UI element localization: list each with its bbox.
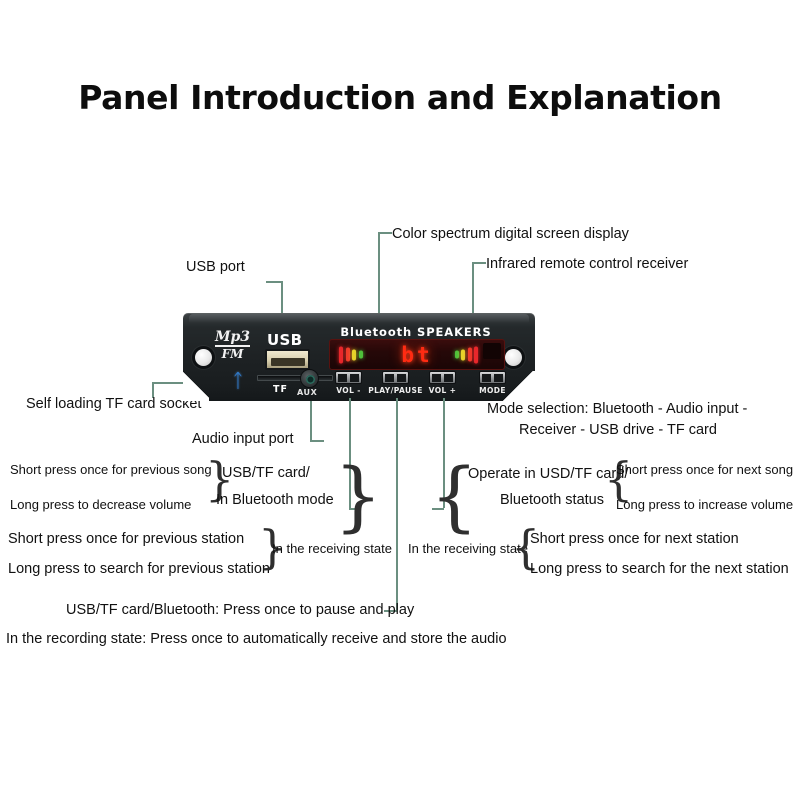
left-decrease-volume-text: Long press to decrease volume	[10, 497, 191, 513]
mode-button[interactable]	[479, 371, 506, 384]
play-pause-button[interactable]	[382, 371, 409, 384]
board-chamfer-left	[183, 371, 209, 401]
spectrum-bar	[474, 346, 478, 363]
diagram-canvas: Panel Introduction and Explanation USB p…	[0, 0, 800, 800]
spectrum-bar	[339, 346, 343, 363]
screen-title-text: Bluetooth SPEAKERS	[329, 325, 503, 339]
left-receiving-state-text: In the receiving state	[272, 541, 392, 557]
callout-tf-card-socket: Self loading TF card socket	[26, 395, 201, 413]
usb-port-connector[interactable]	[265, 349, 310, 370]
bluetooth-icon: ᛏ	[229, 370, 247, 392]
callout-usb-port: USB port	[186, 258, 245, 276]
aux-audio-input-jack[interactable]	[300, 369, 319, 388]
spectrum-bar	[352, 349, 356, 360]
volume-down-button-label: VOL -	[324, 386, 373, 395]
led-display-screen: bt	[329, 339, 505, 370]
leader-play-pause-vertical	[396, 398, 398, 610]
bottom-play-pause-text: USB/TF card/Bluetooth: Press once to pau…	[66, 601, 414, 619]
left-search-prev-station-text: Long press to search for previous statio…	[8, 560, 270, 578]
right-receiving-state-text: In the receiving state	[408, 541, 528, 557]
brand-mp3-text: Mp3	[215, 330, 250, 344]
spectrum-bar	[461, 349, 465, 360]
led-display-value: bt	[401, 343, 432, 367]
mp3-decoder-board: Mp3 FM USB ᛏ TF AUX Bluetooth SPEAKERS b…	[183, 313, 535, 401]
tf-slot-label: TF	[273, 384, 288, 395]
callout-audio-input-port: Audio input port	[192, 430, 294, 448]
mounting-hole-right	[505, 349, 522, 366]
spectrum-bar	[359, 351, 363, 359]
leader-usb-vertical	[281, 281, 283, 313]
left-group-line1: USB/TF card/	[222, 464, 310, 482]
board-chamfer-right	[503, 371, 535, 401]
spectrum-bars-right	[455, 346, 479, 363]
volume-down-button[interactable]	[335, 371, 362, 384]
leader-aux-elbow	[310, 440, 324, 442]
callout-infrared-receiver: Infrared remote control receiver	[486, 255, 688, 273]
brace-left-outer: }	[334, 458, 382, 534]
callout-mode-selection-line2: Receiver - USB drive - TF card	[519, 421, 717, 439]
right-group-line2: Bluetooth status	[500, 491, 604, 509]
right-next-station-text: Short press once for next station	[530, 530, 739, 548]
left-group-line2: In Bluetooth mode	[216, 491, 334, 509]
aux-jack-label: AUX	[297, 388, 317, 397]
left-prev-song-text: Short press once for previous song	[10, 462, 212, 478]
callout-color-spectrum: Color spectrum digital screen display	[392, 225, 629, 243]
mounting-hole-left	[195, 349, 212, 366]
page-title: Panel Introduction and Explanation	[0, 78, 800, 117]
spectrum-bars-left	[339, 346, 363, 363]
infrared-receiver-window	[483, 343, 501, 359]
right-search-next-station-text: Long press to search for the next statio…	[530, 560, 789, 578]
brand-logo: Mp3 FM	[215, 330, 250, 360]
board-bevel	[189, 314, 529, 323]
callout-mode-selection-line1: Mode selection: Bluetooth - Audio input …	[487, 400, 747, 418]
leader-spectrum-elbow	[378, 232, 392, 234]
left-prev-station-text: Short press once for previous station	[8, 530, 244, 548]
play-pause-button-label: PLAY/PAUSE	[368, 386, 423, 395]
volume-up-button[interactable]	[429, 371, 456, 384]
brand-fm-text: FM	[215, 348, 250, 360]
spectrum-bar	[346, 348, 350, 362]
tf-card-slot[interactable]	[257, 375, 333, 381]
spectrum-bar	[455, 351, 459, 359]
leader-infrared-elbow	[472, 262, 486, 264]
bottom-recording-text: In the recording state: Press once to au…	[6, 630, 507, 648]
usb-port-label: USB	[267, 331, 302, 349]
right-increase-volume-text: Long press to increase volume	[616, 497, 793, 513]
spectrum-bar	[468, 348, 472, 362]
volume-up-button-label: VOL +	[418, 386, 467, 395]
right-next-song-text: Short press once for next song	[616, 462, 793, 478]
leader-usb-elbow	[266, 281, 282, 283]
